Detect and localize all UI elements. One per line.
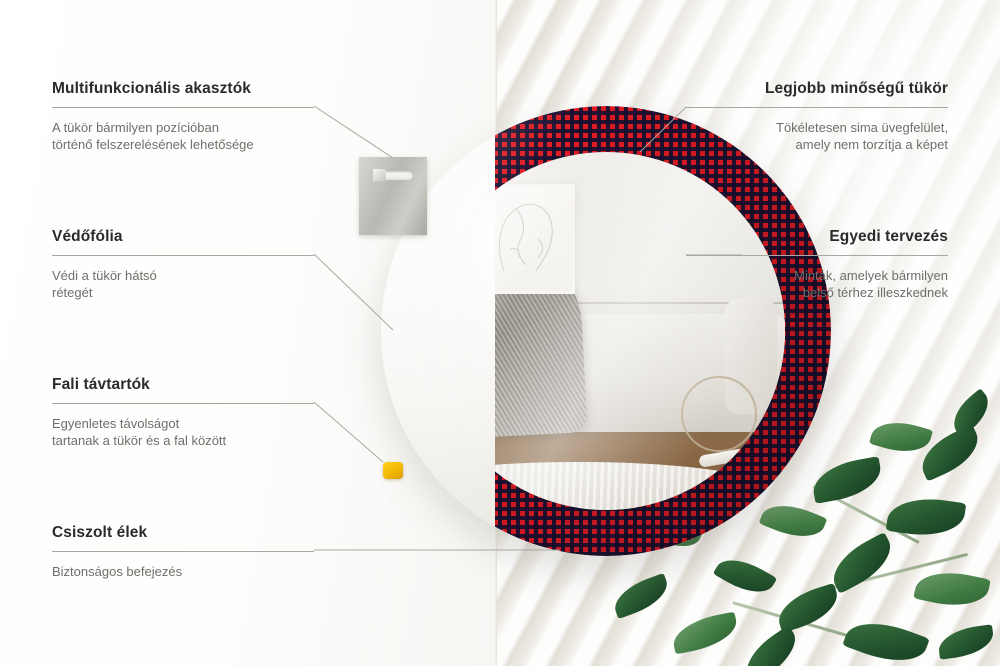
callout-rule	[686, 107, 948, 108]
callout-title: Csiszolt élek	[52, 524, 314, 542]
callout-protective-film: Védőfólia Védi a tükör hátsó rétegét	[52, 228, 314, 301]
hanger-notch	[373, 169, 386, 181]
callout-description: Minták, amelyek bármilyen belső térhez i…	[686, 267, 948, 301]
callout-description: Tökéletesen sima üvegfelület, amely nem …	[686, 119, 948, 153]
callout-description: Egyenletes távolságot tartanak a tükör é…	[52, 415, 314, 449]
callout-description: A tükör bármilyen pozícióban történő fel…	[52, 119, 314, 153]
mounting-hanger-plate	[359, 157, 427, 235]
callout-title: Fali távtartók	[52, 376, 314, 394]
callout-title: Multifunkcionális akasztók	[52, 80, 314, 98]
infographic-canvas: Multifunkcionális akasztók A tükör bármi…	[0, 0, 1000, 666]
callout-multifunctional-hangers: Multifunkcionális akasztók A tükör bármi…	[52, 80, 314, 153]
callout-rule	[52, 551, 314, 552]
callout-polished-edges: Csiszolt élek Biztonságos befejezés	[52, 524, 314, 580]
callout-wall-spacers: Fali távtartók Egyenletes távolságot tar…	[52, 376, 314, 449]
wall-spacer-pad	[383, 462, 403, 479]
callout-rule	[686, 255, 948, 256]
callout-title: Legjobb minőségű tükör	[686, 80, 948, 98]
callout-description: Védi a tükör hátsó rétegét	[52, 267, 314, 301]
callout-title: Védőfólia	[52, 228, 314, 246]
callout-unique-design: Egyedi tervezés Minták, amelyek bármilye…	[686, 228, 948, 301]
callout-title: Egyedi tervezés	[686, 228, 948, 246]
round-mirror	[381, 106, 831, 556]
callout-rule	[52, 107, 314, 108]
callout-rule	[52, 255, 314, 256]
callout-description: Biztonságos befejezés	[52, 563, 314, 580]
callout-rule	[52, 403, 314, 404]
callout-best-quality-mirror: Legjobb minőségű tükör Tökéletesen sima …	[686, 80, 948, 153]
